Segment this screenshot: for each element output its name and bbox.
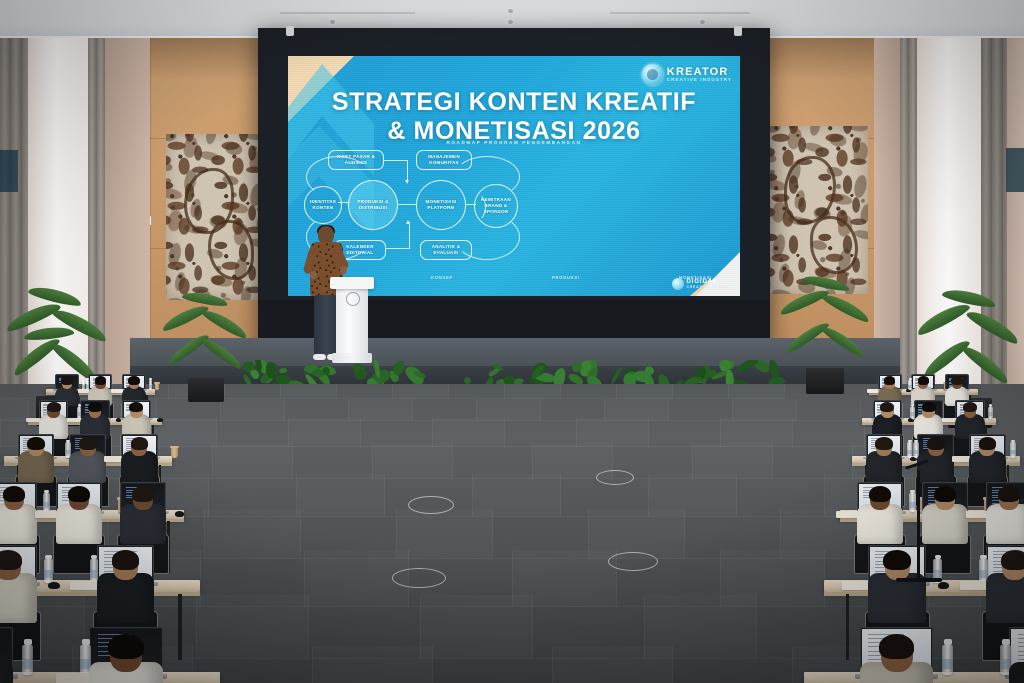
slide-footer-item: PRODUKSI	[552, 275, 580, 280]
attendee-torso	[18, 451, 55, 483]
attendee-torso	[986, 573, 1024, 623]
batik-motif	[784, 156, 836, 224]
conference-room-photo: KREATOR CREATIVE INDUSTRY STRATEGI KONTE…	[0, 0, 1024, 683]
slide-title: STRATEGI KONTEN KREATIF & MONETISASI 202…	[288, 88, 740, 146]
attendee-hair	[108, 634, 143, 660]
palm-frond	[783, 319, 830, 355]
attendee-hair	[1001, 550, 1024, 570]
attendee-torso	[969, 451, 1006, 483]
attendee-hair	[61, 376, 72, 384]
attendee	[117, 484, 169, 544]
attendee-hair	[128, 376, 139, 384]
diagram-edge	[386, 248, 410, 249]
cup-lid	[154, 382, 160, 384]
coffee-cup[interactable]	[155, 383, 160, 390]
palm-frond	[181, 290, 228, 308]
plant-pot	[806, 368, 844, 394]
speaker-hand	[340, 266, 347, 274]
diagram-node: MONETISASI PLATFORM	[416, 180, 466, 230]
carpet-tile	[604, 399, 669, 421]
attendee	[854, 484, 906, 544]
table-leg	[178, 594, 182, 660]
attendee	[67, 435, 109, 483]
attendee-torso	[1009, 662, 1024, 683]
diagram-edge	[407, 160, 408, 182]
attendee	[915, 435, 957, 483]
bottle-cap	[989, 404, 992, 406]
speaker-hand	[310, 271, 317, 279]
slide-brand-logo: KREATOR CREATIVE INDUSTRY	[642, 64, 732, 85]
carpet-tile	[280, 384, 337, 399]
attendee	[1004, 630, 1024, 683]
attendee-hair	[884, 376, 895, 384]
palm-frond	[10, 334, 62, 378]
brand-emblem-icon	[642, 64, 663, 85]
slide-footer-labels: RISETKONSEPPRODUKSIMONETISASI	[316, 275, 712, 280]
attendee-hair	[95, 376, 106, 384]
palm-frond	[166, 331, 211, 367]
carpet-tile	[560, 384, 617, 399]
coffee-cup[interactable]	[171, 447, 178, 457]
bottle-cap	[910, 490, 915, 494]
cup-lid	[170, 446, 178, 448]
carpet-tile	[448, 384, 505, 399]
bottle-label	[988, 412, 992, 416]
attendee-hair	[875, 437, 893, 450]
carpet-tile	[476, 399, 541, 421]
palm-frond	[819, 323, 866, 359]
mic-stand-pole	[917, 470, 920, 582]
attendee-hair	[998, 486, 1020, 502]
attendee	[119, 435, 161, 483]
slide-footer-logo: DIGIDAY CREATIVE FORUM	[672, 278, 728, 290]
bottle-cap	[24, 639, 32, 645]
carpet-tile	[412, 399, 477, 421]
footer-logo-sub: CREATIVE FORUM	[687, 285, 728, 289]
attendee-hair	[880, 402, 894, 412]
palm-frond	[50, 305, 109, 345]
carpet-tile	[672, 646, 793, 683]
attendee-torso	[120, 504, 166, 544]
attendee-torso	[69, 451, 106, 483]
mic-stand-base	[896, 578, 942, 582]
ceiling-spotlight	[508, 20, 513, 24]
slide-footer-item: KONSEP	[431, 275, 453, 280]
computer-mouse[interactable]	[157, 418, 163, 422]
ceiling-spotlight	[700, 20, 705, 24]
attendee-hair	[979, 437, 997, 450]
attendee-torso	[866, 451, 903, 483]
diagram-node-label: ANALITIK & EVALUASI	[424, 244, 468, 255]
attendee-torso	[0, 662, 13, 683]
bottle-label	[149, 385, 153, 388]
diagram-node: ANALITIK & EVALUASI	[420, 240, 472, 260]
attendee-hair	[79, 437, 97, 450]
attendee-torso	[0, 573, 37, 623]
attendee-hair	[883, 550, 911, 570]
computer-mouse[interactable]	[175, 511, 184, 517]
attendee-hair	[68, 486, 90, 502]
attendee-hair	[47, 402, 61, 412]
carpet-tile	[540, 399, 605, 421]
bottle-label	[22, 659, 33, 669]
diagram-node: MANAJEMEN KOMUNITAS	[416, 150, 472, 170]
attendee-torso	[121, 451, 158, 483]
diagram-node-label: PRODUKSI & DISTRIBUSI	[352, 199, 394, 210]
bottle-cap	[82, 378, 85, 380]
bottle-cap	[908, 440, 912, 443]
diagram-node: PRODUKSI & DISTRIBUSI	[348, 180, 398, 230]
bottle-cap	[149, 378, 152, 380]
potted-palm-stage-right	[778, 272, 874, 394]
attendee	[982, 548, 1024, 624]
carpet-tile	[796, 399, 861, 421]
footer-emblem-icon	[672, 278, 684, 290]
computer-mouse[interactable]	[48, 582, 59, 589]
floor-cable	[596, 470, 634, 485]
slide-subtitle: ROADMAP PROGRAM PENGEMBANGAN	[288, 140, 740, 145]
presentation-slide: KREATOR CREATIVE INDUSTRY STRATEGI KONTE…	[288, 56, 740, 296]
diagram-arrowhead	[405, 180, 409, 184]
palm-frond	[200, 335, 245, 371]
screen-mount	[286, 26, 294, 36]
attendee-torso	[922, 504, 968, 544]
bottle-label	[942, 659, 953, 669]
floor-cable	[392, 568, 446, 588]
carpet-tile	[616, 384, 673, 399]
podium	[330, 277, 374, 367]
bottle-cap	[45, 555, 51, 559]
attendee-torso	[917, 451, 954, 483]
attendee-hair	[88, 402, 102, 412]
attendee	[983, 484, 1024, 544]
attendee	[93, 548, 159, 624]
diagram-edge	[409, 222, 410, 249]
carpet-tile	[552, 646, 673, 683]
decor-leaf	[278, 367, 287, 373]
diagram-node-label: IDENTITAS KONTEN	[308, 199, 338, 210]
batik-motif	[184, 168, 234, 234]
diagram-edge	[398, 204, 416, 205]
diagram-node-label: MONETISASI PLATFORM	[420, 199, 462, 210]
attendee-torso	[56, 504, 102, 544]
bottle-label	[43, 502, 50, 508]
attendee	[53, 484, 105, 544]
attendee-hair	[27, 437, 45, 450]
attendee-hair	[879, 634, 914, 660]
attendee	[0, 548, 41, 624]
attendee	[15, 435, 57, 483]
batik-wall-panel	[166, 134, 262, 300]
ceiling-light-strip	[610, 12, 750, 14]
ceiling-light-strip	[280, 12, 415, 14]
attendee	[863, 435, 905, 483]
bottle-cap	[944, 639, 952, 645]
batik-motif	[810, 216, 858, 274]
palm-frond	[820, 290, 871, 324]
attendee-hair	[112, 550, 140, 570]
batik-motif	[208, 220, 254, 280]
table-leg	[846, 594, 850, 660]
carpet-tile	[312, 646, 433, 683]
bottle-label	[933, 570, 942, 578]
bottle-label	[44, 570, 53, 578]
diagram-node: KEMITRAAN BRAND & SPONSOR	[474, 184, 518, 228]
palm-frond	[965, 306, 1022, 346]
attendee-hair	[3, 486, 25, 502]
attendee-torso	[857, 504, 903, 544]
diagram-edge	[384, 160, 408, 161]
attendee	[855, 630, 938, 683]
carpet-tile	[336, 384, 393, 399]
attendee-hair	[132, 486, 154, 502]
attendee	[865, 548, 931, 624]
decor-leaf	[354, 368, 368, 380]
brand-tagline: CREATIVE INDUSTRY	[667, 78, 732, 83]
slide-title-line1: STRATEGI KONTEN KREATIF	[288, 88, 740, 117]
window-reflection	[0, 150, 18, 192]
palm-frond	[160, 302, 210, 334]
carpet-tile	[728, 384, 785, 399]
bottle-label	[909, 502, 916, 508]
carpet-tile	[504, 384, 561, 399]
batik-wall-panel	[770, 126, 868, 294]
diagram-node-label: KEMITRAAN BRAND & SPONSOR	[478, 197, 514, 214]
palm-frond	[24, 325, 75, 341]
podium-top	[330, 277, 374, 289]
attendee-torso	[97, 573, 155, 623]
carpet-tile	[672, 384, 729, 399]
attendee-hair	[951, 376, 962, 384]
attendee	[919, 484, 971, 544]
attendee-hair	[131, 437, 149, 450]
attendee-hair	[963, 402, 977, 412]
screen-mount	[734, 26, 742, 36]
drape-curtain	[900, 38, 917, 420]
bottle-cap	[935, 555, 941, 559]
podium-emblem-icon	[346, 292, 360, 306]
attendee-hair	[0, 550, 22, 570]
diagram-arrowhead	[406, 220, 410, 224]
floor-cable	[608, 552, 658, 571]
carpet-tile	[732, 399, 797, 421]
window-reflection	[1006, 148, 1024, 192]
potted-palm-stage-left	[160, 286, 252, 402]
attendee-torso	[986, 504, 1024, 544]
attendee-hair	[934, 486, 956, 502]
attendee-hair	[927, 437, 945, 450]
decor-leaf	[610, 366, 623, 385]
carpet-tile	[284, 399, 349, 421]
computer-mouse[interactable]	[938, 582, 949, 589]
bottle-label	[1010, 450, 1016, 455]
diagram-node-label: RISET PASAR & AUDIENS	[332, 154, 380, 165]
carpet-tile	[668, 399, 733, 421]
ceiling-spotlight	[330, 20, 335, 24]
carpet-tile	[348, 399, 413, 421]
plant-pot	[188, 378, 224, 402]
attendee	[967, 435, 1009, 483]
bottle-cap	[44, 490, 49, 494]
floor-cable	[408, 496, 454, 514]
attendee-hair	[918, 376, 929, 384]
palm-frond	[778, 286, 830, 317]
attendee-hair	[129, 402, 143, 412]
diagram-node-label: MANAJEMEN KOMUNITAS	[420, 154, 468, 165]
slide-flow-diagram: RISET PASAR & AUDIENSMANAJEMEN KOMUNITAS…	[304, 148, 724, 270]
diagram-node: RISET PASAR & AUDIENS	[328, 150, 384, 170]
attendee	[84, 630, 167, 683]
palm-frond	[914, 299, 971, 338]
attendee-hair	[869, 486, 891, 502]
carpet-tile	[392, 384, 449, 399]
diagram-node: IDENTITAS KONTEN	[304, 186, 342, 224]
bottle-label	[907, 450, 913, 455]
attendee-hair	[922, 402, 936, 412]
ceiling-spotlight	[508, 9, 513, 13]
attendee-torso	[0, 504, 37, 544]
carpet-tile	[432, 646, 553, 683]
attendee	[0, 630, 18, 683]
